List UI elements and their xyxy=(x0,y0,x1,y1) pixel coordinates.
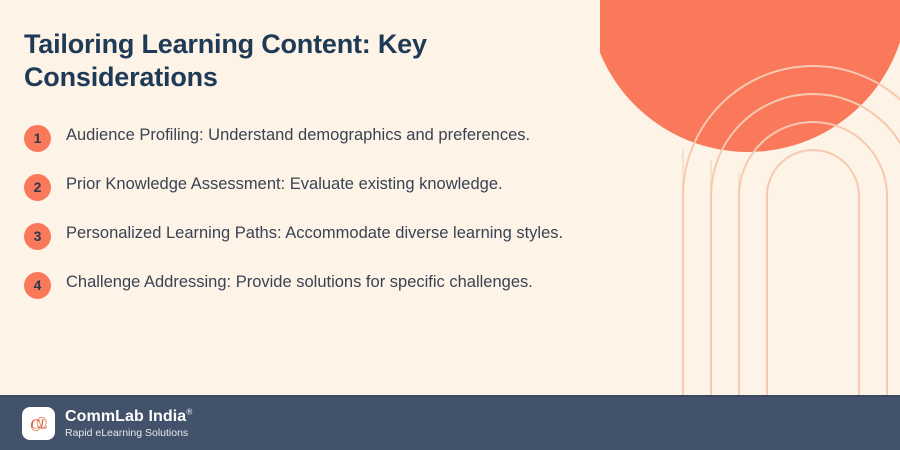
list-item: 1 Audience Profiling: Understand demogra… xyxy=(24,124,650,152)
list-item: 4 Challenge Addressing: Provide solution… xyxy=(24,271,650,299)
registered-trademark-icon: ® xyxy=(186,408,192,417)
brand-name-label: CommLab India xyxy=(65,408,186,425)
slide-content: Tailoring Learning Content: Key Consider… xyxy=(0,0,650,395)
point-number-badge: 4 xyxy=(24,272,51,299)
arc-legs-cream xyxy=(683,150,767,400)
list-item: 3 Personalized Learning Paths: Accommoda… xyxy=(24,222,650,250)
point-text: Personalized Learning Paths: Accommodate… xyxy=(66,222,563,245)
commlab-logo-icon: CL xyxy=(22,407,55,440)
brand-name: CommLab India® xyxy=(65,408,192,426)
key-considerations-list: 1 Audience Profiling: Understand demogra… xyxy=(24,124,650,299)
point-number-badge: 1 xyxy=(24,125,51,152)
brand-tagline: Rapid eLearning Solutions xyxy=(65,428,192,440)
list-item: 2 Prior Knowledge Assessment: Evaluate e… xyxy=(24,173,650,201)
brand-text-block: CommLab India® Rapid eLearning Solutions xyxy=(65,408,192,439)
point-text: Prior Knowledge Assessment: Evaluate exi… xyxy=(66,173,503,196)
slide-canvas: Tailoring Learning Content: Key Consider… xyxy=(0,0,900,450)
point-number-badge: 2 xyxy=(24,174,51,201)
footer-bar: CL CommLab India® Rapid eLearning Soluti… xyxy=(0,395,900,450)
point-text: Challenge Addressing: Provide solutions … xyxy=(66,271,533,294)
point-text: Audience Profiling: Understand demograph… xyxy=(66,124,530,147)
point-number-badge: 3 xyxy=(24,223,51,250)
concentric-arches xyxy=(683,66,900,400)
page-title: Tailoring Learning Content: Key Consider… xyxy=(24,28,524,94)
